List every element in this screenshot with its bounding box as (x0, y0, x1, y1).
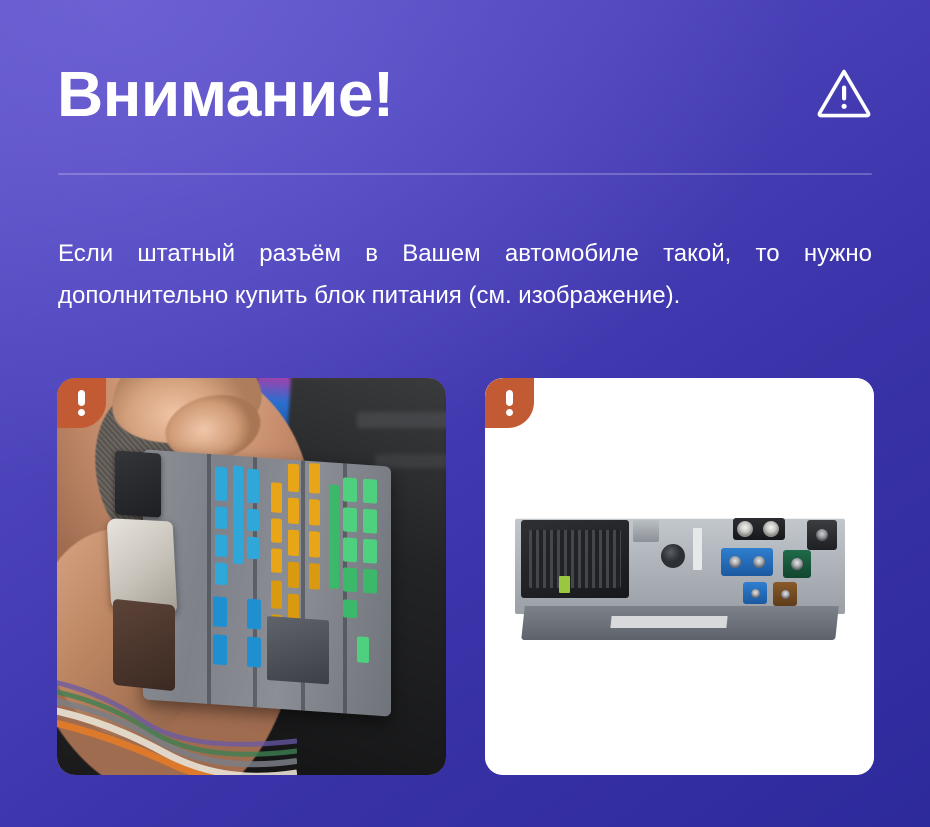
oem-connector-photo (57, 378, 446, 775)
power-supply-photo (485, 378, 874, 775)
psu-fakra-blue-double (721, 548, 773, 576)
warning-description-line-2: дополнительно купить блок питания (см. и… (58, 275, 872, 317)
warning-description-line-1: Если штатный разъём в Вашем автомобиле т… (58, 233, 872, 275)
psu-vertical-sticker (693, 528, 702, 570)
exclamation-icon (78, 390, 85, 416)
image-gallery (57, 378, 874, 775)
psu-rca-jacks (733, 518, 785, 540)
warning-slide: Внимание! Если штатный разъём в Вашем ав… (0, 0, 930, 827)
psu-fakra-green (783, 550, 811, 578)
psu-label (610, 616, 727, 628)
page-title: Внимание! (57, 62, 394, 126)
oem-connector-photo-card[interactable] (57, 378, 446, 775)
power-supply-photo-card[interactable] (485, 378, 874, 775)
psu-round-port (661, 544, 685, 568)
wire-loom (57, 661, 297, 775)
photo-background-bar (357, 412, 446, 428)
connector-black-clip (115, 450, 161, 517)
psu-green-key (559, 576, 570, 593)
header: Внимание! (57, 52, 873, 136)
warning-triangle-icon (815, 65, 873, 123)
psu-main-connector (521, 520, 629, 598)
header-divider (58, 173, 872, 175)
psu-screw-port (807, 520, 837, 550)
warning-description: Если штатный разъём в Вашем автомобиле т… (58, 233, 872, 317)
power-supply-unit (515, 512, 845, 644)
psu-fakra-brown (773, 582, 797, 606)
psu-fakra-blue-single (743, 582, 767, 604)
psu-metal-clip (633, 520, 659, 542)
exclamation-icon (506, 390, 513, 416)
